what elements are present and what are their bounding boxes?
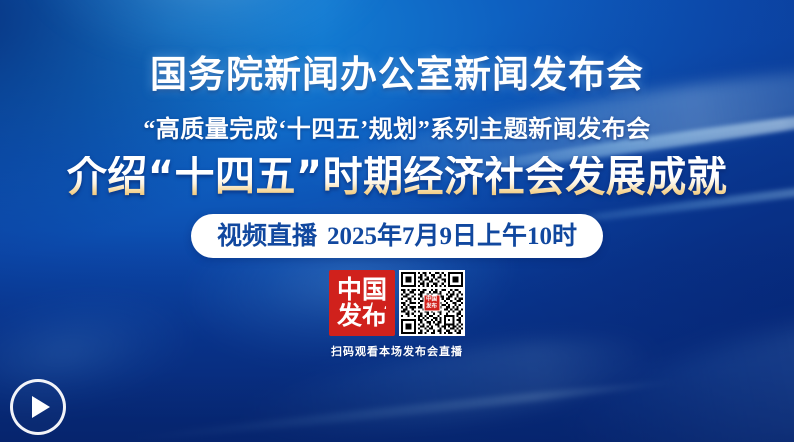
qr-center-brand-logo: 中国 发布 xyxy=(424,295,441,312)
live-broadcast-pill: 视频直播 2025年7月9日上午10时 xyxy=(191,214,603,258)
live-broadcast-label: 视频直播 xyxy=(217,224,317,249)
poster-content: 国务院新闻办公室新闻发布会 “高质量完成‘十四五’规划”系列主题新闻发布会 介绍… xyxy=(0,0,794,442)
qr-caption: 扫码观看本场发布会直播 xyxy=(331,343,463,359)
play-icon xyxy=(32,396,50,418)
qr-section: 中国 发布 xyxy=(329,270,465,359)
series-subtitle: “高质量完成‘十四五’规划”系列主题新闻发布会 xyxy=(143,118,650,142)
page-title: 国务院新闻办公室新闻发布会 xyxy=(150,57,644,94)
qr-center-logo-line-2: 发布 xyxy=(426,303,437,309)
brand-logo-flag-mark xyxy=(371,302,386,311)
play-button[interactable] xyxy=(10,379,66,435)
brand-logo-line-1: 中国 xyxy=(337,277,387,303)
news-conference-video-poster: 国务院新闻办公室新闻发布会 “高质量完成‘十四五’规划”系列主题新闻发布会 介绍… xyxy=(0,0,794,442)
qr-code[interactable]: 中国 发布 xyxy=(399,270,465,336)
qr-row: 中国 发布 xyxy=(329,270,465,336)
headline: 介绍“十四五”时期经济社会发展成就 xyxy=(67,156,727,199)
brand-logo: 中国 发布 xyxy=(329,270,395,336)
live-broadcast-datetime: 2025年7月9日上午10时 xyxy=(327,224,577,249)
